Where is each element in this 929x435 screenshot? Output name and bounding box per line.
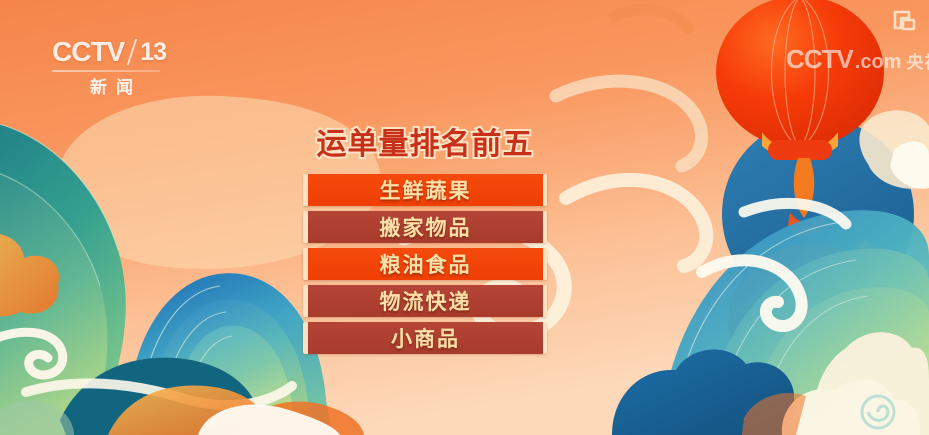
ranking-panel: 运单量排名前五 生鲜蔬果 搬家物品 粮油食品 物流快递 小商品 <box>303 128 547 354</box>
ranking-item-1: 生鲜蔬果 <box>303 174 547 206</box>
ranking-item-label: 搬家物品 <box>380 212 472 242</box>
ranking-item-label: 物流快递 <box>380 286 472 316</box>
ranking-item-label: 小商品 <box>391 323 460 353</box>
panel-title: 运单量排名前五 <box>303 128 547 162</box>
ranking-item-5: 小商品 <box>303 322 547 354</box>
cctv-channel-logo: CCTV 13 新闻 <box>52 36 172 92</box>
cctv-wordmark: CCTV <box>52 36 124 68</box>
broadcast-frame: CCTV 13 新闻 CCTV .com 央视网 运单量排名前五 生鲜蔬果 搬家… <box>0 0 929 435</box>
ranking-item-2: 搬家物品 <box>303 211 547 243</box>
picture-in-picture-icon[interactable] <box>893 10 917 32</box>
ranking-list: 生鲜蔬果 搬家物品 粮油食品 物流快递 小商品 <box>303 174 547 354</box>
watermark-chinese: 央视网 <box>906 48 929 73</box>
ranking-item-label: 生鲜蔬果 <box>380 175 472 205</box>
logo-slash-divider <box>127 39 137 65</box>
ranking-item-3: 粮油食品 <box>303 248 547 280</box>
watermark-cctv: CCTV <box>786 44 853 75</box>
channel-number: 13 <box>140 38 166 67</box>
ranking-item-label: 粮油食品 <box>380 249 472 279</box>
watermark-dotcom: .com <box>855 51 902 74</box>
ranking-item-4: 物流快递 <box>303 285 547 317</box>
logo-underline <box>52 70 160 72</box>
channel-name: 新闻 <box>52 73 172 98</box>
cctv-logo-row: CCTV 13 <box>52 36 172 68</box>
cctv-com-watermark: CCTV .com 央视网 <box>786 44 929 75</box>
